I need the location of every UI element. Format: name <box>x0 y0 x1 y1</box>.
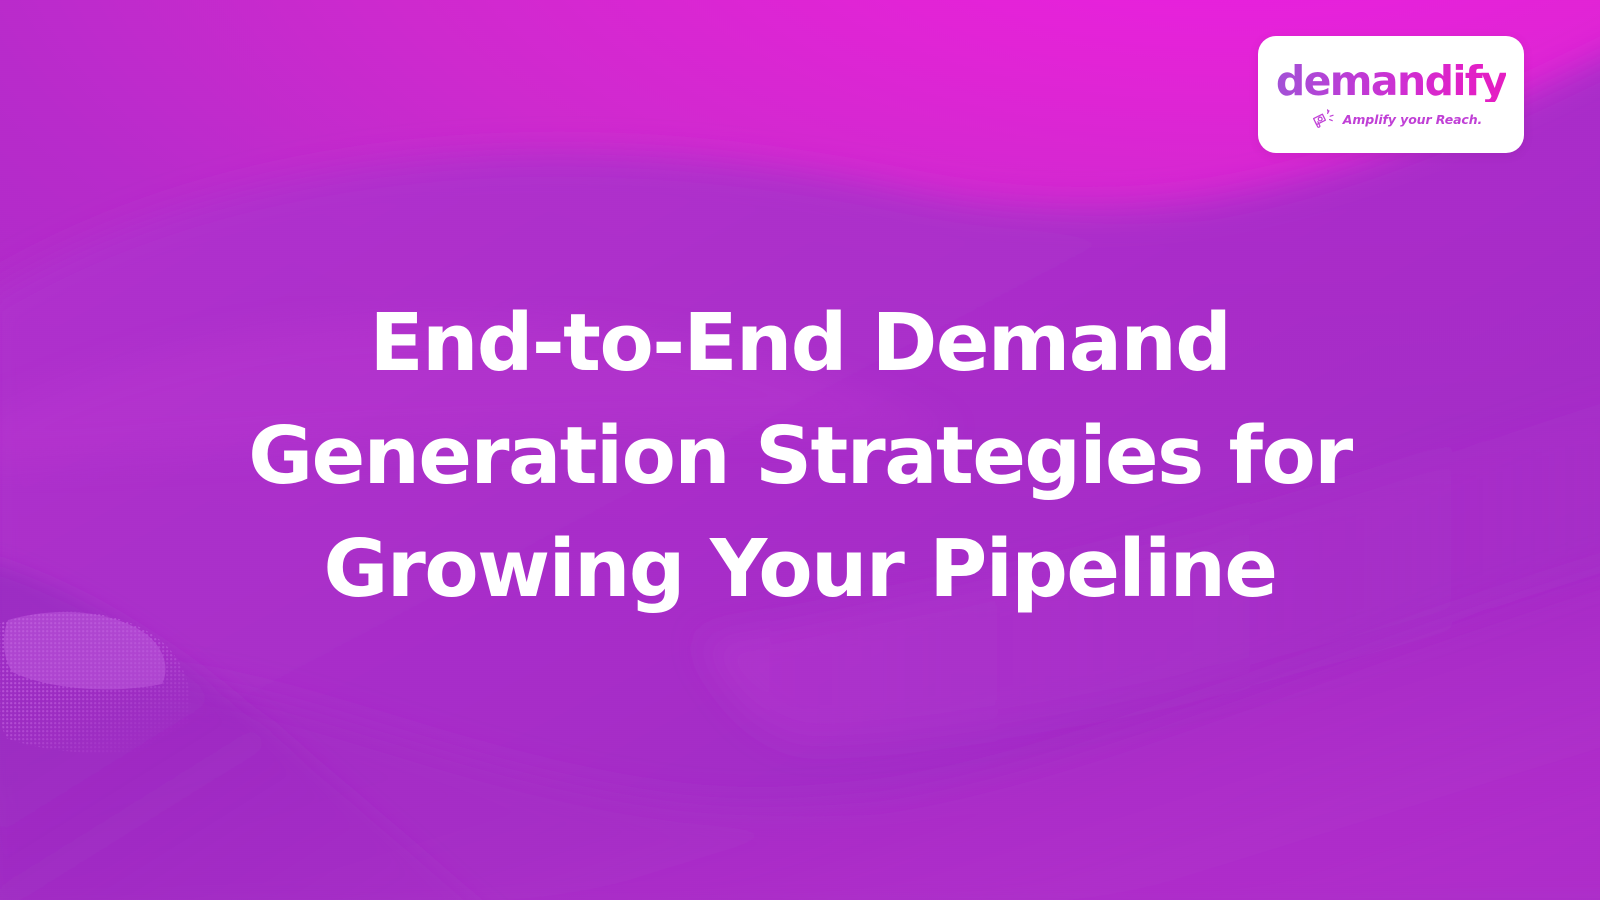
brand-tagline-row: Amplify your Reach. <box>1310 109 1482 131</box>
headline-line-2: Generation Strategies for <box>70 400 1530 513</box>
title-slide: demandify Amplify your Reach. End-to-End… <box>0 0 1600 900</box>
brand-logo-card: demandify Amplify your Reach. <box>1258 36 1524 153</box>
headline-line-1: End-to-End Demand <box>70 287 1530 400</box>
headline-line-3: Growing Your Pipeline <box>70 513 1530 626</box>
page-title: End-to-End Demand Generation Strategies … <box>0 287 1600 626</box>
megaphone-icon <box>1310 109 1336 131</box>
brand-tagline: Amplify your Reach. <box>1343 112 1482 127</box>
brand-wordmark: demandify <box>1276 61 1506 102</box>
